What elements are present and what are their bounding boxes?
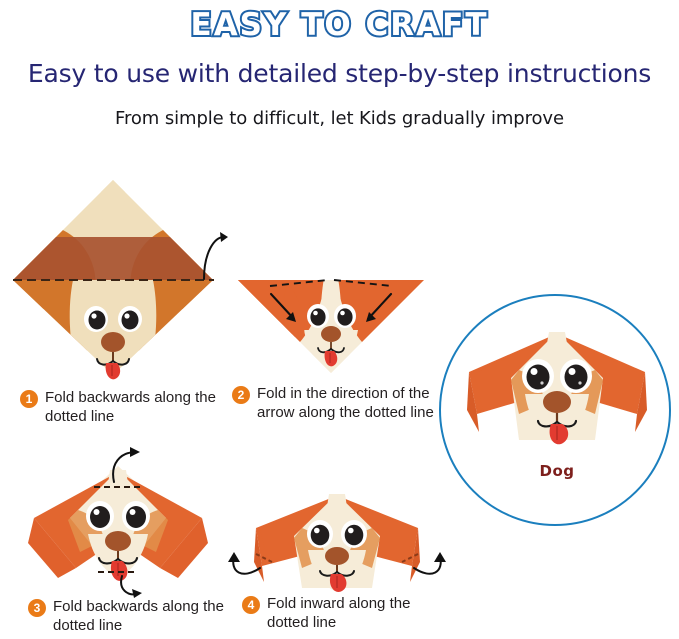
step-2: 2 Fold in the direction of the arrow alo… bbox=[238, 272, 428, 377]
tagline: From simple to difficult, let Kids gradu… bbox=[0, 108, 679, 129]
step-2-text: Fold in the direction of the arrow along… bbox=[257, 384, 442, 422]
folded-ears-dog-illustration bbox=[18, 448, 218, 598]
step-1-figure bbox=[18, 175, 228, 380]
step-3: 3 Fold backwards along the dotted line bbox=[18, 448, 218, 598]
page-title: EASY TO CRAFT bbox=[0, 7, 679, 43]
step-4-badge: 4 bbox=[242, 596, 260, 614]
diamond-dog-illustration bbox=[18, 175, 228, 380]
result-figure bbox=[453, 328, 661, 458]
step-3-badge: 3 bbox=[28, 599, 46, 617]
step-1-badge: 1 bbox=[20, 390, 38, 408]
step-1-text: Fold backwards along the dotted line bbox=[45, 388, 230, 426]
step-1: 1 Fold backwards along the dotted line bbox=[18, 175, 228, 380]
step-4-text: Fold inward along the dotted line bbox=[267, 594, 452, 632]
step-2-caption: 2 Fold in the direction of the arrow alo… bbox=[232, 384, 442, 422]
step-4-caption: 4 Fold inward along the dotted line bbox=[242, 594, 452, 632]
step-3-figure bbox=[18, 448, 218, 598]
step-3-text: Fold backwards along the dotted line bbox=[53, 597, 238, 635]
step-2-badge: 2 bbox=[232, 386, 250, 404]
inverted-triangle-dog-illustration bbox=[238, 272, 428, 377]
step-4-figure bbox=[232, 488, 442, 603]
step-4: 4 Fold inward along the dotted line bbox=[232, 488, 442, 603]
header: EASY TO CRAFT Easy to use with detailed … bbox=[0, 0, 679, 129]
result-circle: Dog bbox=[439, 294, 671, 526]
wide-ears-dog-illustration bbox=[232, 488, 442, 603]
subtitle: Easy to use with detailed step-by-step i… bbox=[0, 59, 679, 88]
step-2-figure bbox=[238, 272, 428, 377]
step-1-caption: 1 Fold backwards along the dotted line bbox=[20, 388, 230, 426]
result-label: Dog bbox=[441, 462, 673, 480]
fold-arrow-icon bbox=[204, 232, 228, 279]
step-3-caption: 3 Fold backwards along the dotted line bbox=[28, 597, 238, 635]
finished-origami-dog-illustration bbox=[453, 328, 661, 458]
